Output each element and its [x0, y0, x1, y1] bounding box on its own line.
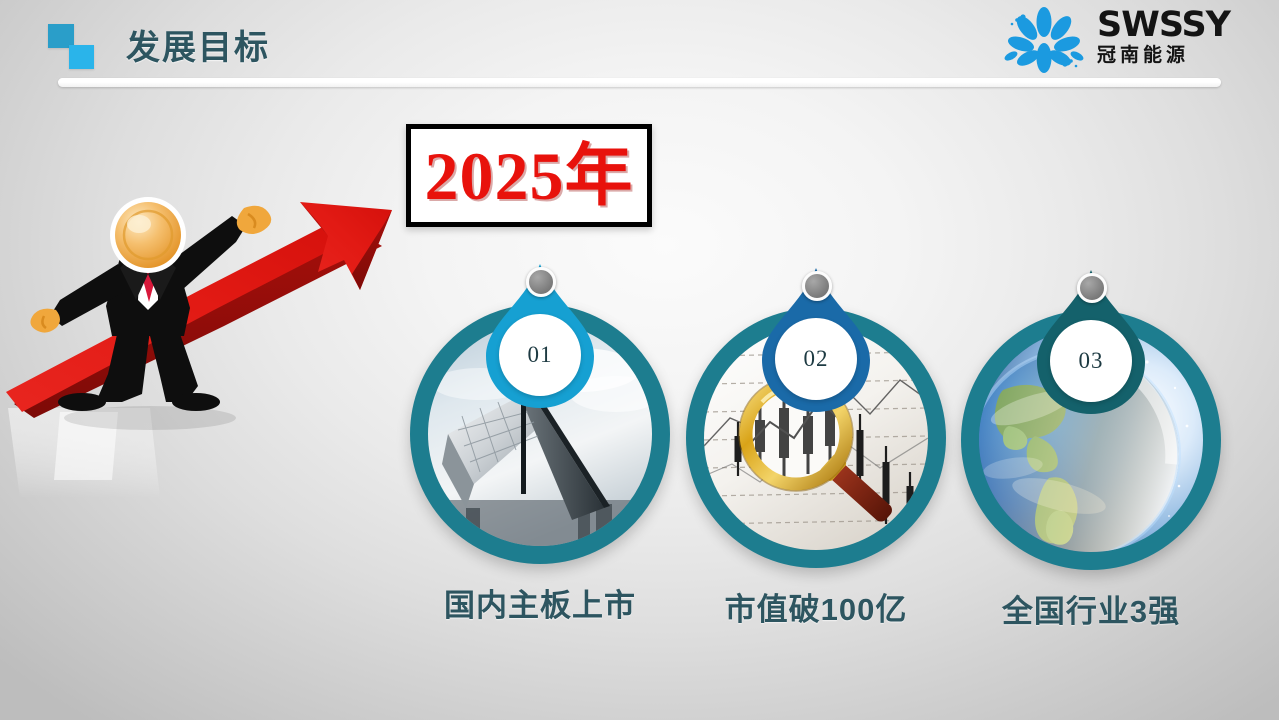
goal-pin-icon-01	[526, 267, 556, 297]
year-badge: 2025年	[406, 124, 652, 227]
square-light-icon	[69, 45, 94, 69]
goal-number-02: 02	[804, 346, 829, 372]
businessman-on-rising-red-arrow-illustration	[0, 150, 420, 510]
goal-label-01: 国内主板上市	[380, 580, 700, 625]
slide-canvas: 发展目标	[0, 0, 1279, 720]
two-blue-squares-icon	[48, 24, 104, 70]
logo-text-block: SWSSY 冠南能源	[1097, 6, 1261, 68]
page-title: 发展目标	[126, 20, 270, 69]
year-badge-text: 2025年	[424, 142, 633, 210]
goal-number-badge-02: 02	[775, 318, 857, 400]
blue-petal-flower-logo-icon	[1001, 6, 1087, 74]
goal-number-01: 01	[528, 342, 553, 368]
logo-subtitle: 冠南能源	[1097, 44, 1261, 68]
header-divider	[58, 78, 1221, 87]
goal-number-03: 03	[1079, 348, 1104, 374]
goal-label-02: 市值破100亿	[656, 584, 976, 629]
company-logo: SWSSY 冠南能源	[1001, 4, 1261, 76]
goal-number-badge-01: 01	[499, 314, 581, 396]
goal-pin-icon-03	[1077, 273, 1107, 303]
goal-pin-icon-02	[802, 271, 832, 301]
goal-number-badge-03: 03	[1050, 320, 1132, 402]
logo-wordmark: SWSSY	[1097, 6, 1261, 44]
goal-label-03: 全国行业3强	[931, 586, 1251, 631]
